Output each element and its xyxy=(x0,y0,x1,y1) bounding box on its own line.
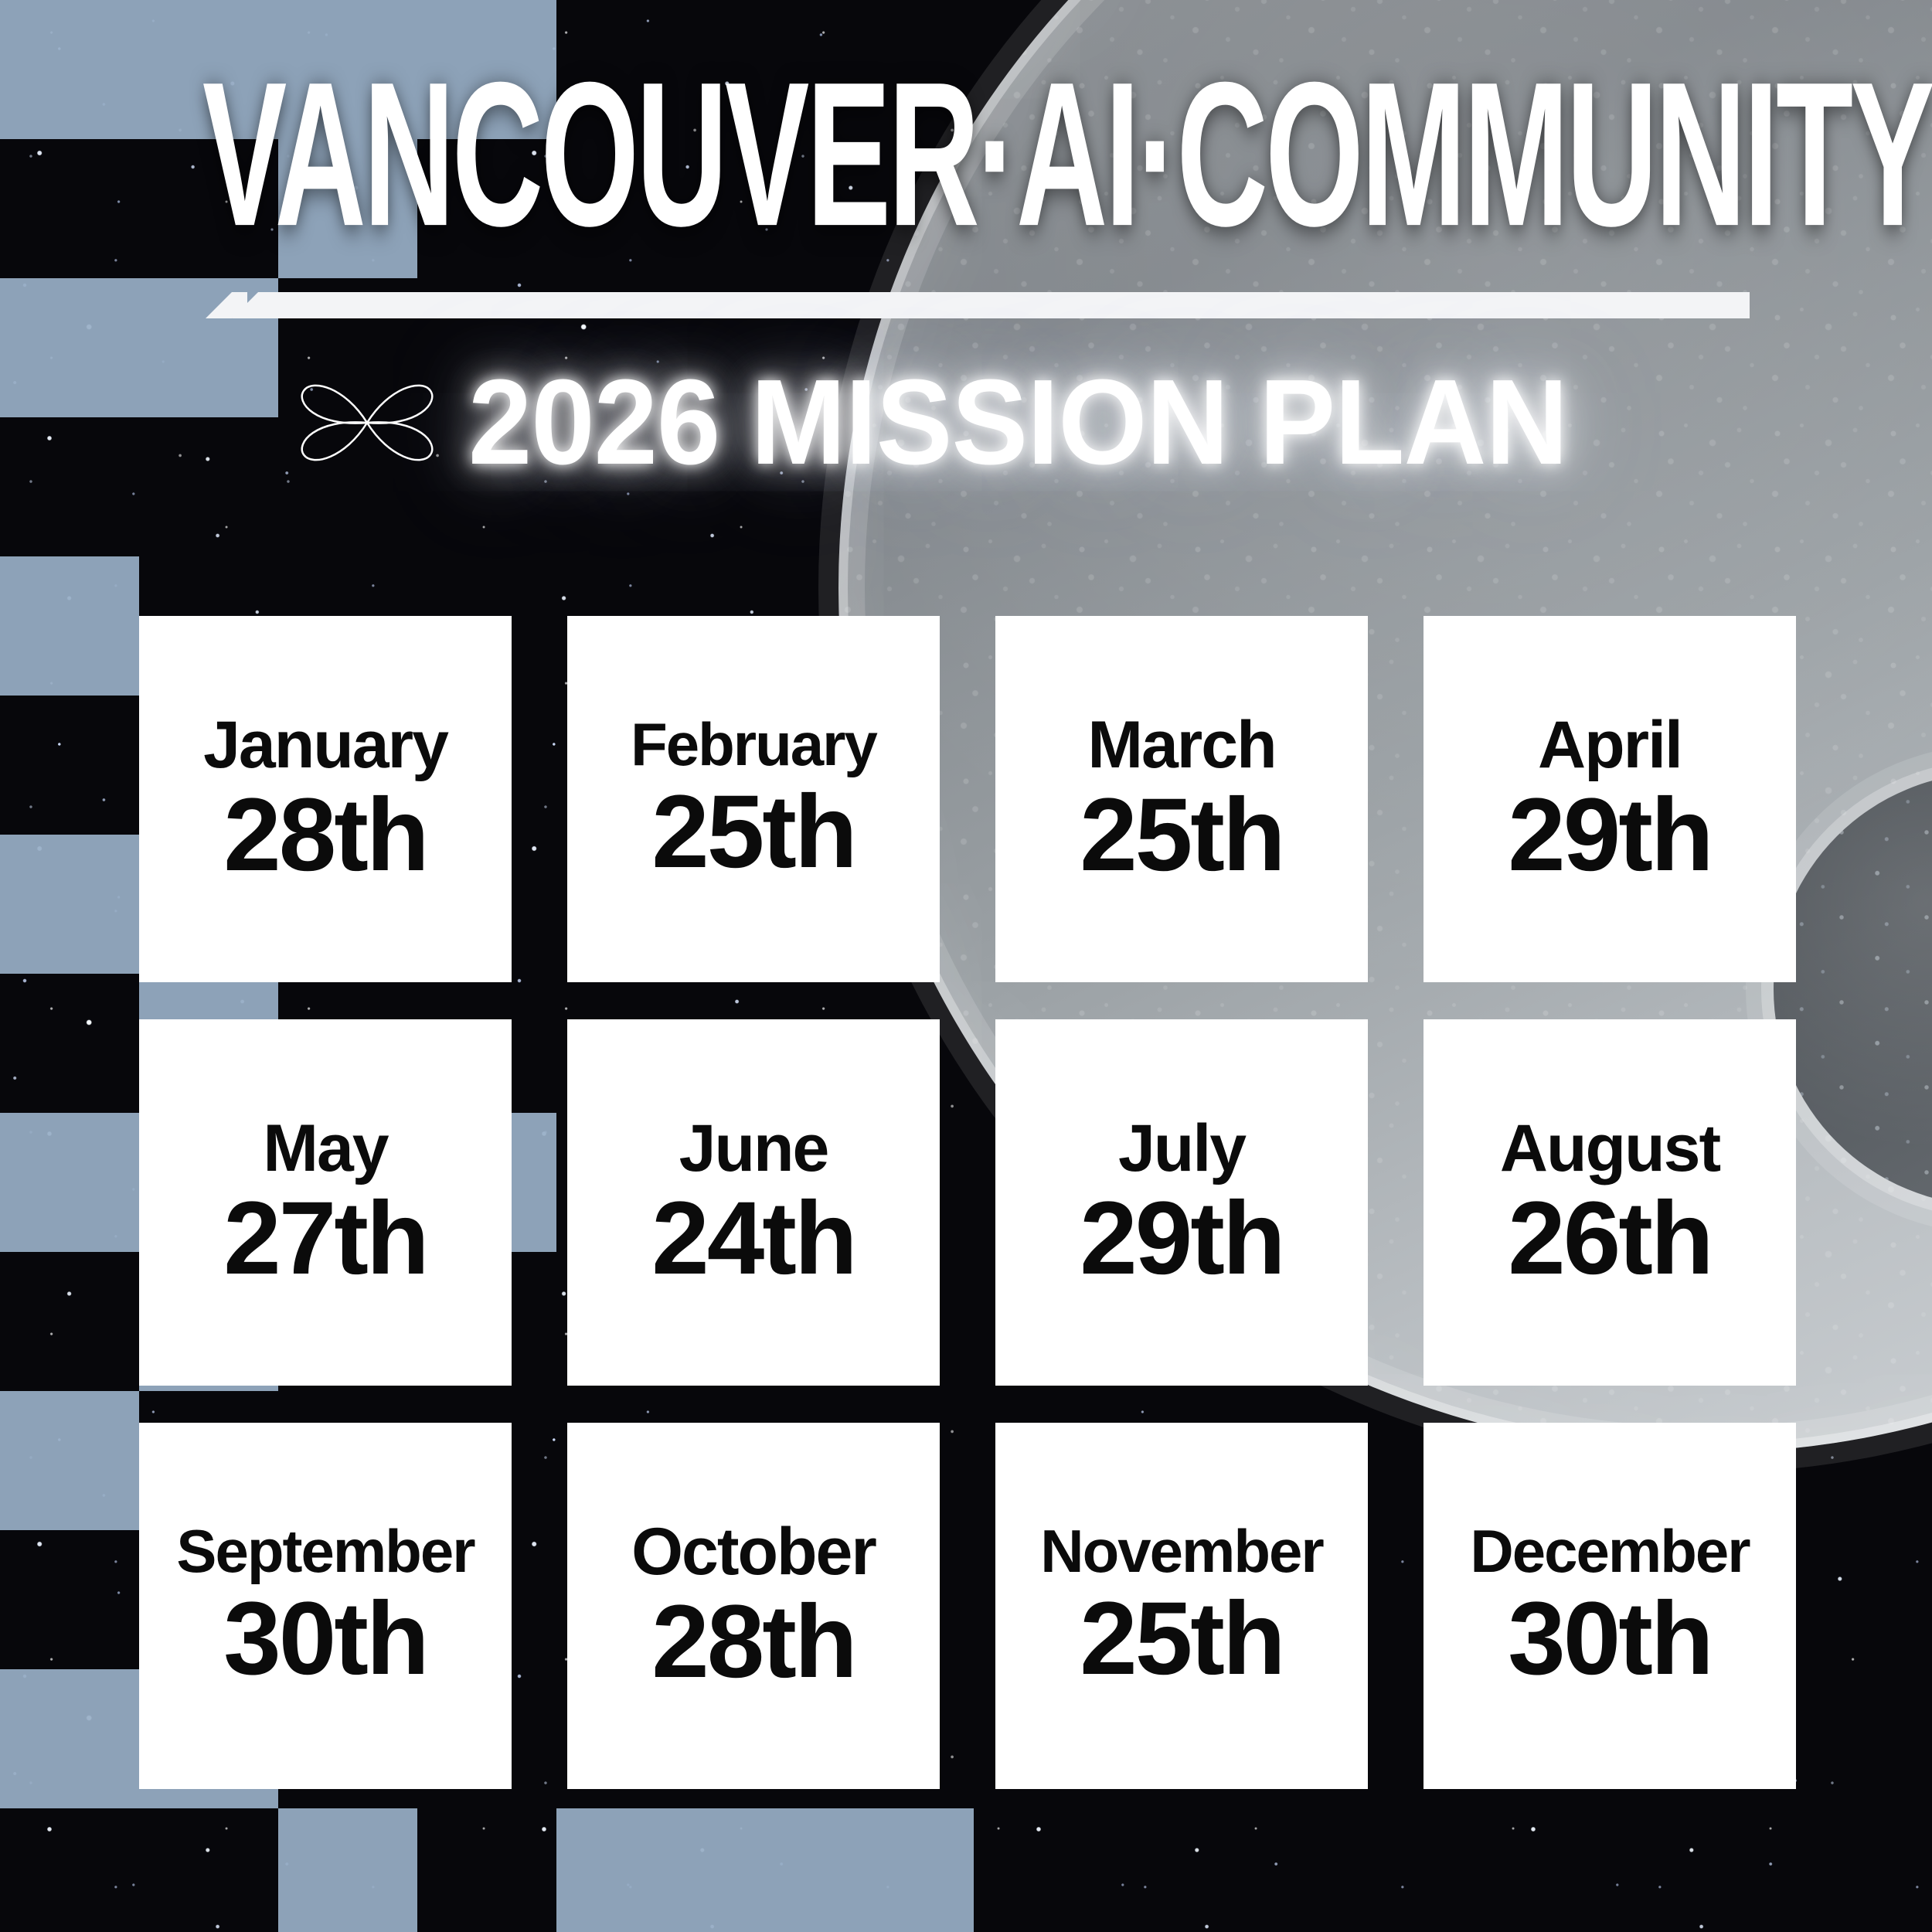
checker-block xyxy=(0,1113,139,1252)
checker-block xyxy=(0,835,139,974)
card-month-label: July xyxy=(1118,1114,1245,1183)
checker-block xyxy=(0,556,139,696)
schedule-card[interactable]: November25th xyxy=(995,1423,1368,1789)
card-day-label: 24th xyxy=(651,1186,855,1292)
card-month-label: April xyxy=(1538,710,1682,780)
card-day-label: 25th xyxy=(1080,1587,1284,1692)
checker-block xyxy=(0,0,139,139)
card-month-label: August xyxy=(1500,1114,1719,1183)
schedule-card[interactable]: April29th xyxy=(1423,616,1796,982)
schedule-card[interactable]: January28th xyxy=(139,616,512,982)
card-month-label: December xyxy=(1470,1520,1749,1583)
card-day-label: 29th xyxy=(1508,783,1712,889)
subtitle-row: 2026 MISSION PLAN xyxy=(294,349,1567,496)
schedule-card[interactable]: February25th xyxy=(567,616,940,982)
schedule-card[interactable]: September30th xyxy=(139,1423,512,1789)
checker-block xyxy=(556,1808,696,1932)
card-day-label: 29th xyxy=(1080,1186,1284,1292)
schedule-grid: January28thFebruary25thMarch25thApril29t… xyxy=(139,616,1798,1789)
schedule-card[interactable]: May27th xyxy=(139,1019,512,1386)
atom-orbital-icon xyxy=(294,349,440,496)
schedule-card[interactable]: June24th xyxy=(567,1019,940,1386)
brand-underline xyxy=(232,292,1750,318)
card-month-label: September xyxy=(176,1520,474,1583)
schedule-card[interactable]: March25th xyxy=(995,616,1368,982)
schedule-card[interactable]: October28th xyxy=(567,1423,940,1789)
card-month-label: March xyxy=(1087,710,1275,780)
checker-block xyxy=(278,1808,417,1932)
schedule-card[interactable]: July29th xyxy=(995,1019,1368,1386)
card-day-label: 25th xyxy=(1080,783,1284,889)
checker-block xyxy=(0,1669,139,1808)
card-month-label: January xyxy=(203,710,447,780)
checker-block xyxy=(0,1391,139,1530)
mission-plan-poster: VANCOUVER·AI·COMMUNITY 2026 MISSION PLAN… xyxy=(0,0,1932,1932)
card-month-label: June xyxy=(679,1114,828,1183)
subtitle-text: 2026 MISSION PLAN xyxy=(468,362,1567,484)
checker-block xyxy=(696,1808,835,1932)
schedule-card[interactable]: August26th xyxy=(1423,1019,1796,1386)
brand-title-text: VANCOUVER·AI·COMMUNITY xyxy=(202,51,1932,257)
schedule-card[interactable]: December30th xyxy=(1423,1423,1796,1789)
card-day-label: 25th xyxy=(651,780,855,886)
card-month-label: October xyxy=(631,1517,876,1587)
brand-title: VANCOUVER·AI·COMMUNITY xyxy=(202,116,1932,257)
checker-block xyxy=(0,278,139,417)
card-day-label: 28th xyxy=(651,1590,855,1696)
card-day-label: 30th xyxy=(1508,1587,1712,1692)
checker-block xyxy=(835,1808,974,1932)
card-month-label: May xyxy=(263,1114,387,1183)
card-day-label: 26th xyxy=(1508,1186,1712,1292)
card-day-label: 27th xyxy=(223,1186,427,1292)
card-day-label: 28th xyxy=(223,783,427,889)
card-month-label: February xyxy=(631,713,876,777)
card-day-label: 30th xyxy=(223,1587,427,1692)
card-month-label: November xyxy=(1040,1520,1322,1583)
